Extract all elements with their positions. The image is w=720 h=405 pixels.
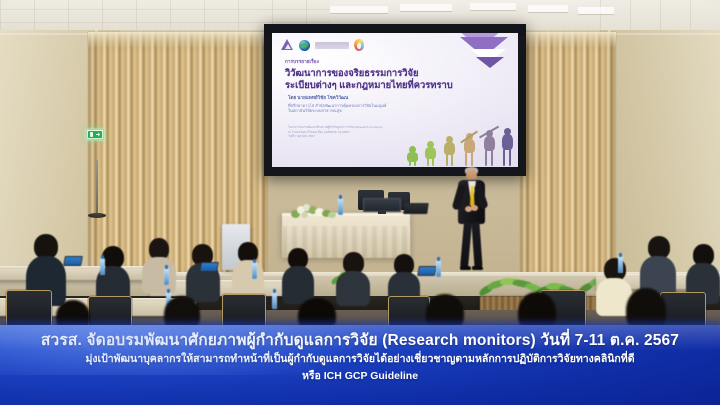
speaker-person [452, 168, 492, 280]
projector-screen: การบรรยายเรื่อง วิวัฒนาการของจริยธรรมการ… [272, 33, 518, 167]
slide-evolution-graphic [404, 126, 516, 166]
speaker-legs [461, 222, 483, 270]
head-table-monitor [363, 198, 401, 212]
audience-person [282, 248, 314, 304]
slide-title: วิวัฒนาการของจริยธรรมการวิจัย ระเบียบต่า… [285, 67, 495, 90]
laptop-screen [63, 256, 83, 266]
screenshot-root: การบรรยายเรื่อง วิวัฒนาการของจริยธรรมการ… [0, 0, 720, 405]
globe-logo-icon [299, 40, 310, 51]
microphone-stand [96, 160, 98, 215]
evolution-figure [423, 141, 439, 166]
exit-running-man-icon [88, 131, 102, 139]
audience-person [142, 238, 176, 294]
monitor-stand [378, 211, 386, 214]
emergency-exit-sign [86, 129, 104, 140]
water-bottle [252, 262, 257, 279]
flame-logo-icon [354, 39, 364, 51]
evolution-figure [442, 136, 458, 166]
evolution-figure [461, 133, 478, 166]
evolution-figure [406, 146, 421, 166]
ceiling-light-panel [400, 4, 452, 11]
caption-subline: มุ่งเป้าพัฒนาบุคลากรให้สามารถทำหน้าที่เป… [85, 350, 634, 368]
audience-laptop [64, 256, 82, 268]
laptop-screen [199, 262, 219, 272]
curtain-glow-right [520, 32, 616, 48]
caption-guideline: หรือ ICH GCP Guideline [302, 368, 418, 385]
ceiling-light-panel [470, 3, 516, 10]
audience-laptop [418, 266, 436, 278]
curtain-glow-left [88, 32, 268, 48]
triangle-logo-icon [281, 39, 294, 51]
caption-headline: สวรส. จัดอบรมพัฒนาศักยภาพผู้กำกับดูแลการ… [41, 331, 679, 350]
ceiling-light-panel [528, 5, 568, 12]
slide-title-line-2: ระเบียบต่างๆ และกฎหมายไทยที่ควรทราบ [285, 79, 495, 91]
slide-presenter: โดย นายแพทย์วิชัย โชควิวัฒน [288, 95, 458, 101]
water-bottle [164, 268, 169, 285]
affiliation-line-2: ในสถาบันวิจัยระบบสาธารณสุข [288, 108, 453, 113]
slide-logo-row [281, 39, 364, 51]
laptop-screen [417, 266, 437, 276]
slide-presenter-affiliation: ที่ปรึกษาอาวุโส สำนักพัฒนาการคุ้มครองการ… [288, 103, 453, 114]
audience-laptop [200, 262, 218, 274]
flower-arrangement [291, 203, 337, 219]
head-table-laptop [403, 203, 429, 214]
ceiling-light-panel [578, 7, 614, 14]
water-bottle [100, 258, 105, 275]
evolution-figure [500, 128, 515, 166]
slat-curtain-right [520, 32, 616, 277]
slide-kicker: การบรรยายเรื่อง [285, 59, 319, 66]
water-bottle [338, 198, 343, 215]
organization-wordmark [315, 42, 349, 49]
evolution-figure [481, 130, 498, 166]
slide-title-line-1: วิวัฒนาการของจริยธรรมการวิจัย [285, 67, 495, 79]
caption-banner-text: สวรส. จัดอบรมพัฒนาศักยภาพผู้กำกับดูแลการ… [0, 325, 720, 405]
water-bottle [272, 292, 277, 309]
caption-banner: สวรส. จัดอบรมพัฒนาศักยภาพผู้กำกับดูแลการ… [0, 325, 720, 405]
audience-person [232, 242, 264, 300]
microphone-stand-base [88, 213, 106, 218]
speaker-hands [471, 205, 478, 211]
ceiling-light-panel [330, 6, 388, 13]
water-bottle [436, 260, 441, 277]
water-bottle [618, 256, 623, 273]
